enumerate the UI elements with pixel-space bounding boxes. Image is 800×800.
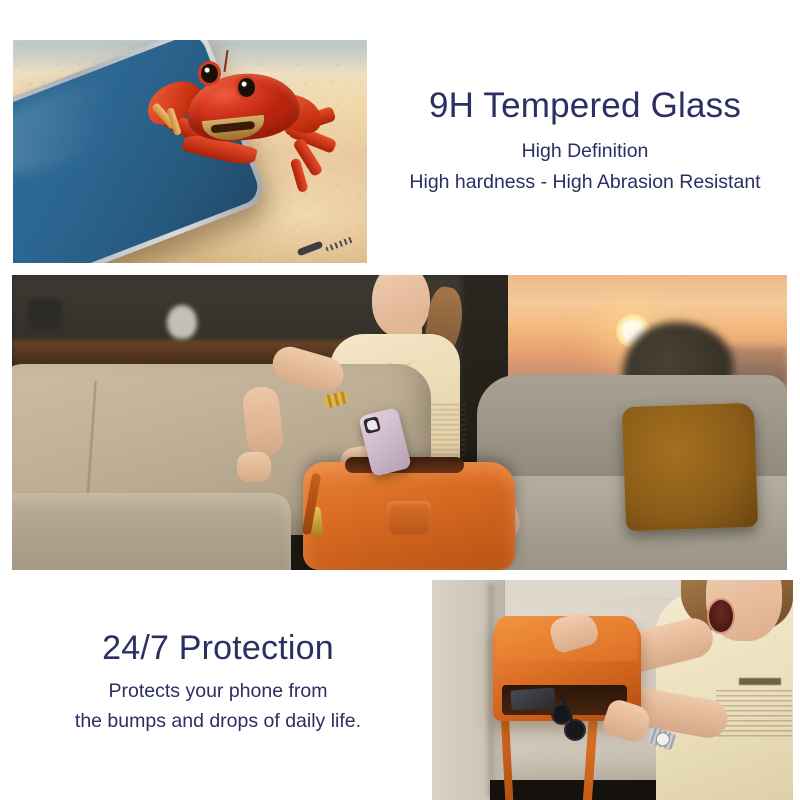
phone-camera-module [363, 416, 381, 434]
sunglasses [551, 703, 593, 733]
photo-woman-placing-phone-in-bag [12, 275, 787, 570]
feature-glass-text: 9H Tempered Glass High Definition High h… [378, 85, 792, 197]
photo-crab-on-phone [13, 40, 367, 263]
protection-subline-2: the bumps and drops of daily life. [18, 706, 418, 736]
protection-headline: 24/7 Protection [18, 628, 418, 668]
photo-woman-surprised-with-bag [432, 580, 793, 800]
glass-headline: 9H Tempered Glass [378, 85, 792, 126]
decor-pot [28, 299, 62, 329]
product-feature-graphic: 9H Tempered Glass High Definition High h… [0, 0, 800, 800]
feature-protection-text: 24/7 Protection Protects your phone from… [18, 628, 418, 737]
woman-open-mouth [707, 598, 735, 634]
decor-vase [167, 305, 197, 339]
phone-in-handbag [510, 688, 556, 711]
brown-throw-pillow [622, 403, 758, 531]
crab-eye [201, 64, 218, 83]
orange-handbag [303, 462, 515, 570]
sofa-arm [12, 493, 291, 570]
glass-subline-1: High Definition [378, 136, 792, 166]
protection-subline-1: Protects your phone from [18, 676, 418, 706]
tank-top-brand-print [739, 678, 781, 685]
woman-left-hand [237, 452, 271, 482]
crab-eye [238, 78, 255, 97]
crab [141, 58, 349, 228]
woman-forearm [241, 385, 284, 456]
glass-subline-2: High hardness - High Abrasion Resistant [378, 167, 792, 197]
handbag-front-tab [387, 501, 431, 535]
